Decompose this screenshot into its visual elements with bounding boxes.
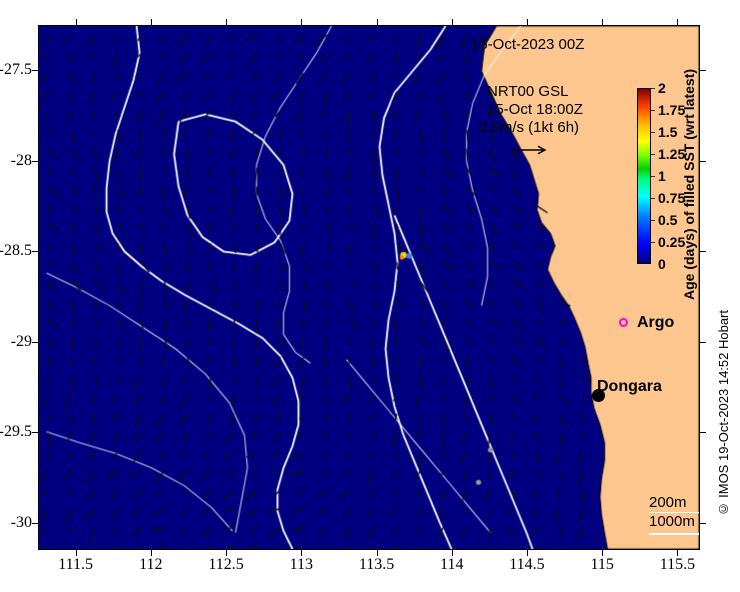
x-axis-tick — [452, 19, 453, 25]
x-axis-tick-label: 114.5 — [509, 556, 544, 574]
x-axis-tick-label: 111.5 — [58, 556, 93, 574]
argo-marker-icon[interactable] — [619, 318, 628, 327]
depth-contour-legend: 200m 1000m — [649, 494, 700, 535]
x-axis-tick — [377, 19, 378, 25]
velocity-scale-label: 0.5m/s (1kt 6h) — [479, 119, 579, 136]
colorbar[interactable]: 00.250.50.7511.251.51.752 — [637, 88, 651, 264]
sst-age-map-canvas[interactable] — [39, 26, 699, 549]
y-axis-tick — [32, 251, 38, 252]
depth-legend-1000m-label: 1000m — [649, 513, 700, 530]
x-axis-tick — [301, 19, 302, 25]
x-axis-tick-label: 114 — [440, 556, 463, 574]
x-axis-tick-label: 112.5 — [208, 556, 243, 574]
colorbar-tick-label: 0.5 — [658, 212, 677, 228]
argo-label: Argo — [637, 314, 674, 332]
colorbar-gradient[interactable] — [637, 88, 651, 264]
x-axis-tick-label: 115 — [591, 556, 614, 574]
colorbar-tick — [651, 110, 655, 111]
x-axis-tick-label: 112 — [139, 556, 162, 574]
date-stamp-label: 15-Oct-2023 00Z — [471, 36, 584, 53]
colorbar-tick-label: 1 — [658, 168, 666, 184]
depth-legend-200m-label: 200m — [649, 494, 700, 511]
y-axis-tick — [700, 432, 706, 433]
x-axis-tick — [76, 19, 77, 25]
x-axis-tick — [151, 19, 152, 25]
y-axis-tick-label: -29.5 — [0, 423, 32, 441]
y-axis-tick — [32, 70, 38, 71]
y-axis-tick — [700, 70, 706, 71]
y-axis-tick — [32, 523, 38, 524]
y-axis-tick — [32, 342, 38, 343]
colorbar-tick — [651, 198, 655, 199]
y-axis-tick — [700, 251, 706, 252]
colorbar-tick-label: 1.5 — [658, 124, 677, 140]
x-axis-tick-label: 115.5 — [660, 556, 695, 574]
colorbar-tick — [651, 220, 655, 221]
y-axis-tick-label: -29 — [11, 333, 32, 351]
x-axis-tick — [527, 19, 528, 25]
x-axis-tick — [602, 19, 603, 25]
map-plot-area[interactable]: 15-Oct-2023 00Z NRT00 GSL 15-Oct 18:00Z … — [38, 25, 700, 550]
y-axis-tick-label: -27.5 — [0, 61, 32, 79]
source-time-label: 15-Oct 18:00Z — [487, 101, 583, 118]
colorbar-tick — [651, 242, 655, 243]
reference-arrow-icon — [511, 144, 551, 156]
colorbar-tick — [651, 88, 655, 89]
x-axis-tick-label: 113.5 — [359, 556, 394, 574]
colorbar-title: Age (days) of filled SST (wrt latest) — [681, 30, 697, 300]
y-axis-tick-label: -28.5 — [0, 242, 32, 260]
colorbar-tick-label: 0 — [658, 256, 666, 272]
x-axis-tick — [226, 19, 227, 25]
colorbar-tick — [651, 176, 655, 177]
x-axis-tick — [677, 19, 678, 25]
source-model-label: NRT00 GSL — [487, 83, 568, 100]
colorbar-tick — [651, 154, 655, 155]
credit-label: © IMOS 19-Oct-2023 14:52 Hobart — [716, 310, 731, 516]
y-axis-tick — [700, 342, 706, 343]
y-axis-tick — [32, 161, 38, 162]
y-axis-tick — [700, 523, 706, 524]
y-axis-tick-label: -30 — [11, 514, 32, 532]
y-axis-tick — [700, 161, 706, 162]
depth-legend-1000m-line — [649, 533, 700, 535]
dongara-label: Dongara — [597, 378, 662, 396]
y-axis-tick — [32, 432, 38, 433]
y-axis-tick-label: -28 — [11, 152, 32, 170]
colorbar-tick — [651, 132, 655, 133]
x-axis-tick-label: 113 — [290, 556, 313, 574]
colorbar-tick-label: 2 — [658, 80, 666, 96]
figure-root: 15-Oct-2023 00Z NRT00 GSL 15-Oct 18:00Z … — [0, 0, 740, 592]
